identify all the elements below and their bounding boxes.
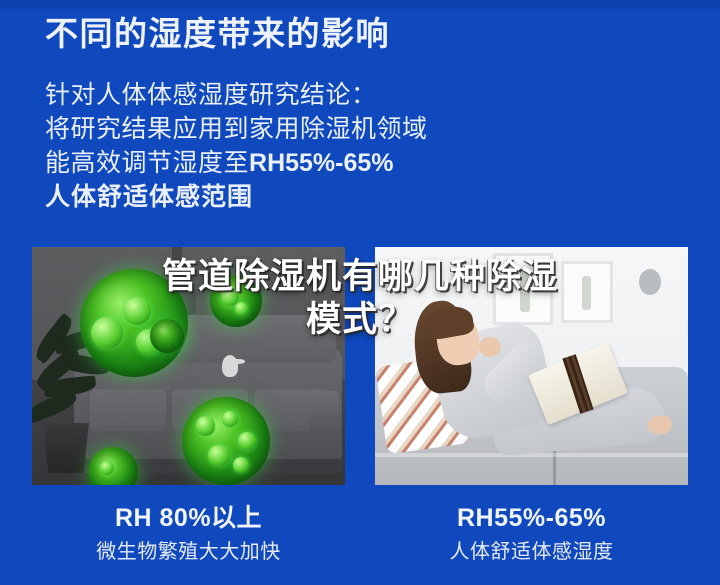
photo-woman-reading bbox=[375, 247, 688, 485]
body-copy-block: 针对人体体感湿度研究结论： 将研究结果应用到家用除湿机领域 能高效调节湿度至RH… bbox=[45, 78, 645, 214]
body-line-range: 能高效调节湿度至RH55%-65% bbox=[45, 146, 645, 180]
wall-art-frame bbox=[561, 261, 613, 323]
photo-dark-living-room bbox=[32, 247, 345, 485]
woman-hand bbox=[479, 337, 501, 357]
body-line-application: 将研究结果应用到家用除湿机领域 bbox=[45, 112, 645, 146]
wall-speaker-icon bbox=[639, 269, 661, 295]
top-edge-strip bbox=[0, 0, 720, 9]
wall-art-frame bbox=[493, 253, 553, 325]
microbe-icon bbox=[182, 397, 270, 485]
microbe-icon bbox=[150, 319, 184, 353]
caption-right-sub: 人体舒适体感湿度 bbox=[375, 540, 688, 565]
body-line-range-value: RH55%-65% bbox=[249, 149, 394, 177]
caption-left-main: RH 80%以上 bbox=[32, 503, 345, 534]
page-title: 不同的湿度带来的影响 bbox=[45, 16, 390, 52]
dark-room-scene bbox=[32, 247, 345, 485]
light-room-scene bbox=[375, 247, 688, 485]
dark-side-table bbox=[309, 391, 339, 433]
caption-right: RH55%-65% 人体舒适体感湿度 bbox=[375, 503, 688, 565]
plant-pot bbox=[40, 423, 92, 473]
caption-left: RH 80%以上 微生物繁殖大大加快 bbox=[32, 503, 345, 565]
body-line-conclusion: 针对人体体感湿度研究结论： bbox=[45, 78, 645, 112]
caption-right-main: RH55%-65% bbox=[375, 503, 688, 534]
microbe-icon bbox=[210, 275, 262, 327]
body-line-comfort: 人体舒适体感范围 bbox=[45, 180, 645, 214]
caption-left-sub: 微生物繁殖大大加快 bbox=[32, 540, 345, 565]
bird-ornament-icon bbox=[222, 355, 238, 377]
body-line-range-prefix: 能高效调节湿度至 bbox=[45, 149, 249, 177]
humidity-infographic-poster: 不同的湿度带来的影响 针对人体体感湿度研究结论： 将研究结果应用到家用除湿机领域… bbox=[0, 0, 720, 585]
